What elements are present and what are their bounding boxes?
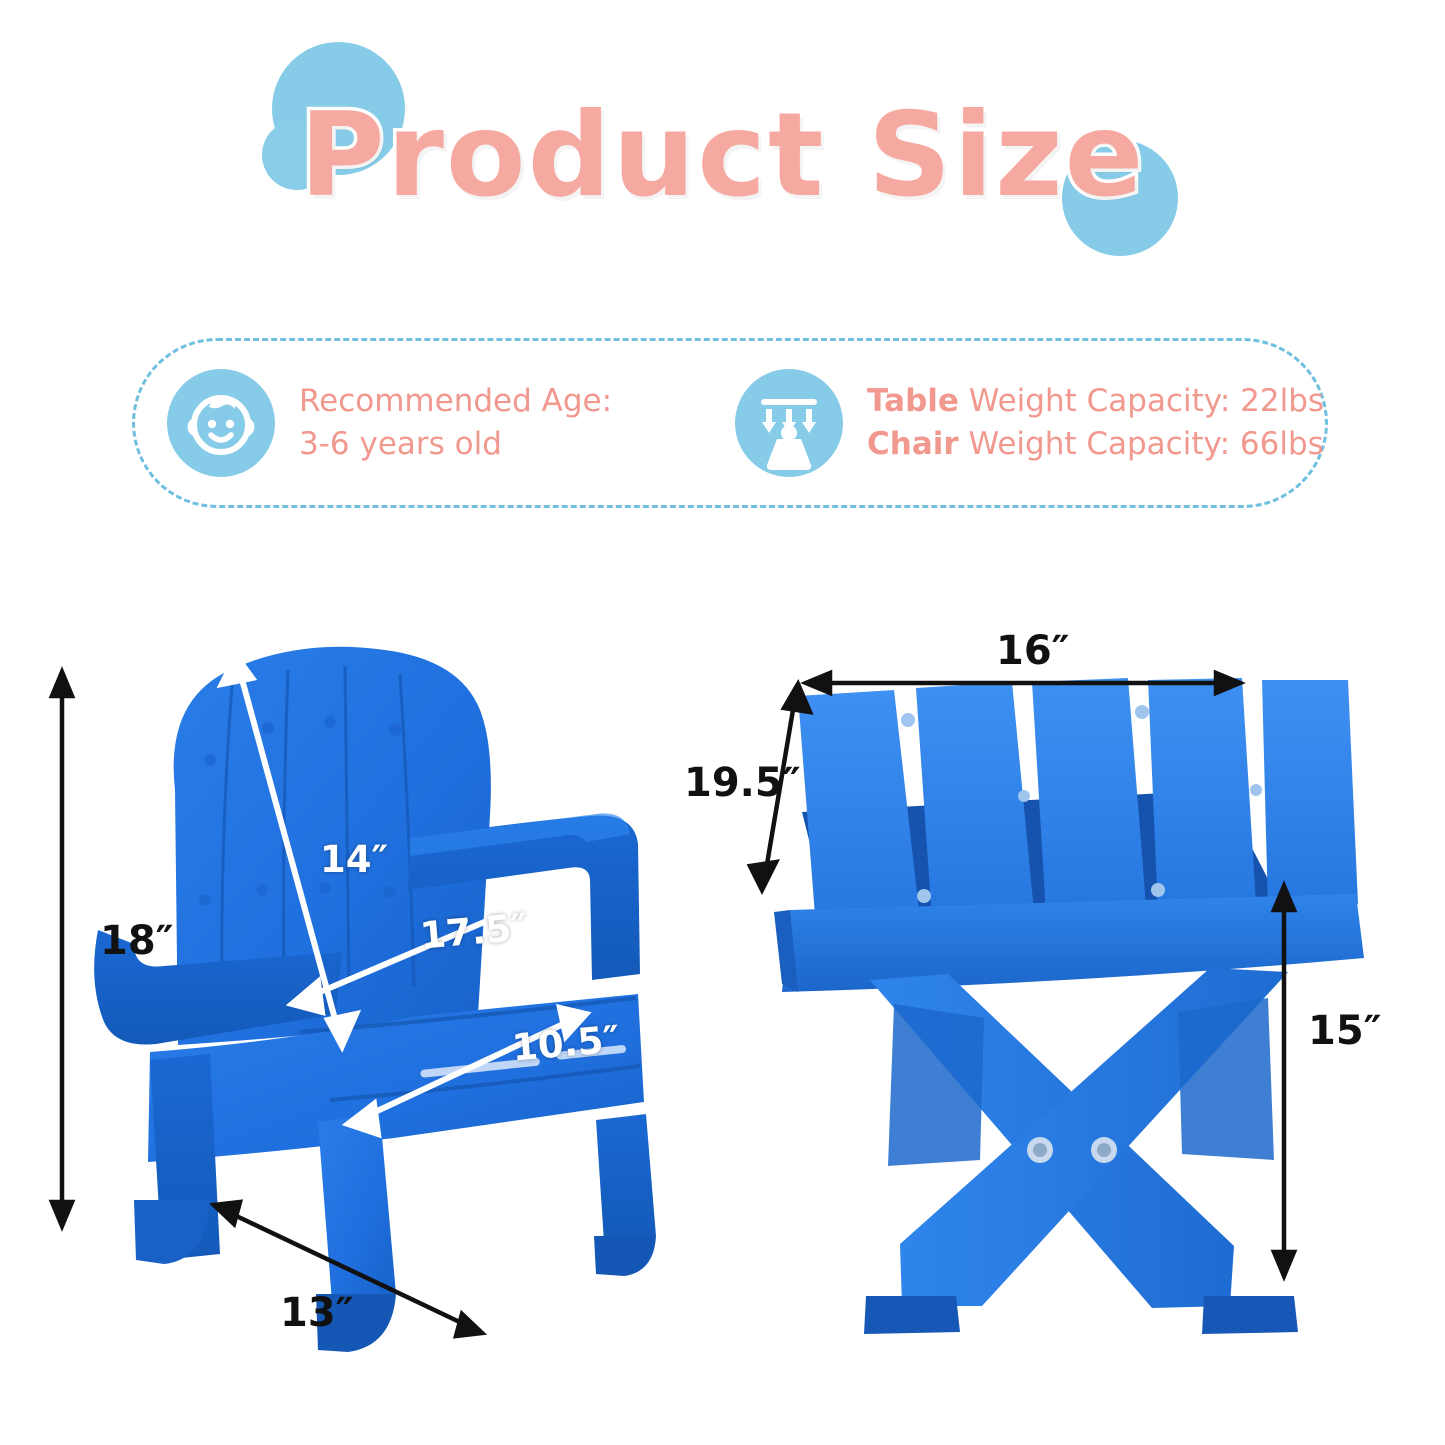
chair-weight-capacity-line: Chair Weight Capacity: 66lbs: [867, 423, 1324, 466]
page-title: Product Size: [0, 88, 1445, 223]
info-item-recommended-age: Recommended Age: 3-6 years old: [167, 369, 727, 477]
table-dim-depth: 19.5″: [684, 760, 801, 806]
chair-product-illustration: 18″ 14″ 17.5″ 10.5″ 13″: [0, 600, 760, 1380]
chair-weight-rest: Weight Capacity: 66lbs: [959, 426, 1324, 462]
table-top-slats: [798, 678, 1358, 928]
table-slat-5: [1262, 680, 1358, 910]
table-apron-left: [888, 1004, 984, 1166]
weight-capacity-icon: [735, 369, 843, 477]
chair-dim-height: 18″: [100, 918, 174, 964]
chair-dim-backrest: 14″: [320, 838, 388, 881]
chair-weight-bold-word: Chair: [867, 426, 959, 462]
table-product-illustration: 16″ 19.5″ 15″: [680, 600, 1400, 1360]
info-bar: Recommended Age: 3-6 years old: [132, 338, 1328, 508]
recommended-age-line2: 3-6 years old: [299, 423, 612, 466]
table-dim-width: 16″: [996, 628, 1070, 674]
table-dim-height: 15″: [1308, 1008, 1382, 1054]
table-slat-2: [916, 682, 1034, 920]
chair-dim-depth: 13″: [280, 1290, 354, 1336]
recommended-age-line1: Recommended Age:: [299, 380, 612, 423]
table-foot-left: [864, 1296, 960, 1334]
table-foot-right: [1202, 1296, 1298, 1334]
table-slat-3: [1032, 678, 1146, 914]
chair-rear-right-leg: [596, 1114, 656, 1242]
baby-face-icon: [167, 369, 275, 477]
chair-right-foot: [594, 1236, 656, 1276]
table-weight-capacity-line: Table Weight Capacity: 22lbs: [867, 380, 1324, 423]
table-drawing: [680, 600, 1400, 1360]
table-slat-1: [798, 690, 920, 928]
table-weight-rest: Weight Capacity: 22lbs: [959, 383, 1324, 419]
table-slat-4: [1148, 678, 1256, 912]
weight-capacity-text: Table Weight Capacity: 22lbs Chair Weigh…: [867, 380, 1324, 466]
recommended-age-text: Recommended Age: 3-6 years old: [299, 380, 612, 466]
table-weight-bold-word: Table: [867, 383, 959, 419]
product-size-infographic: Product Size Recommended Age:: [0, 0, 1445, 1445]
table-apron-right: [1178, 998, 1274, 1160]
info-item-weight-capacity: Table Weight Capacity: 22lbs Chair Weigh…: [735, 369, 1324, 477]
chair-drawing: [0, 600, 760, 1380]
